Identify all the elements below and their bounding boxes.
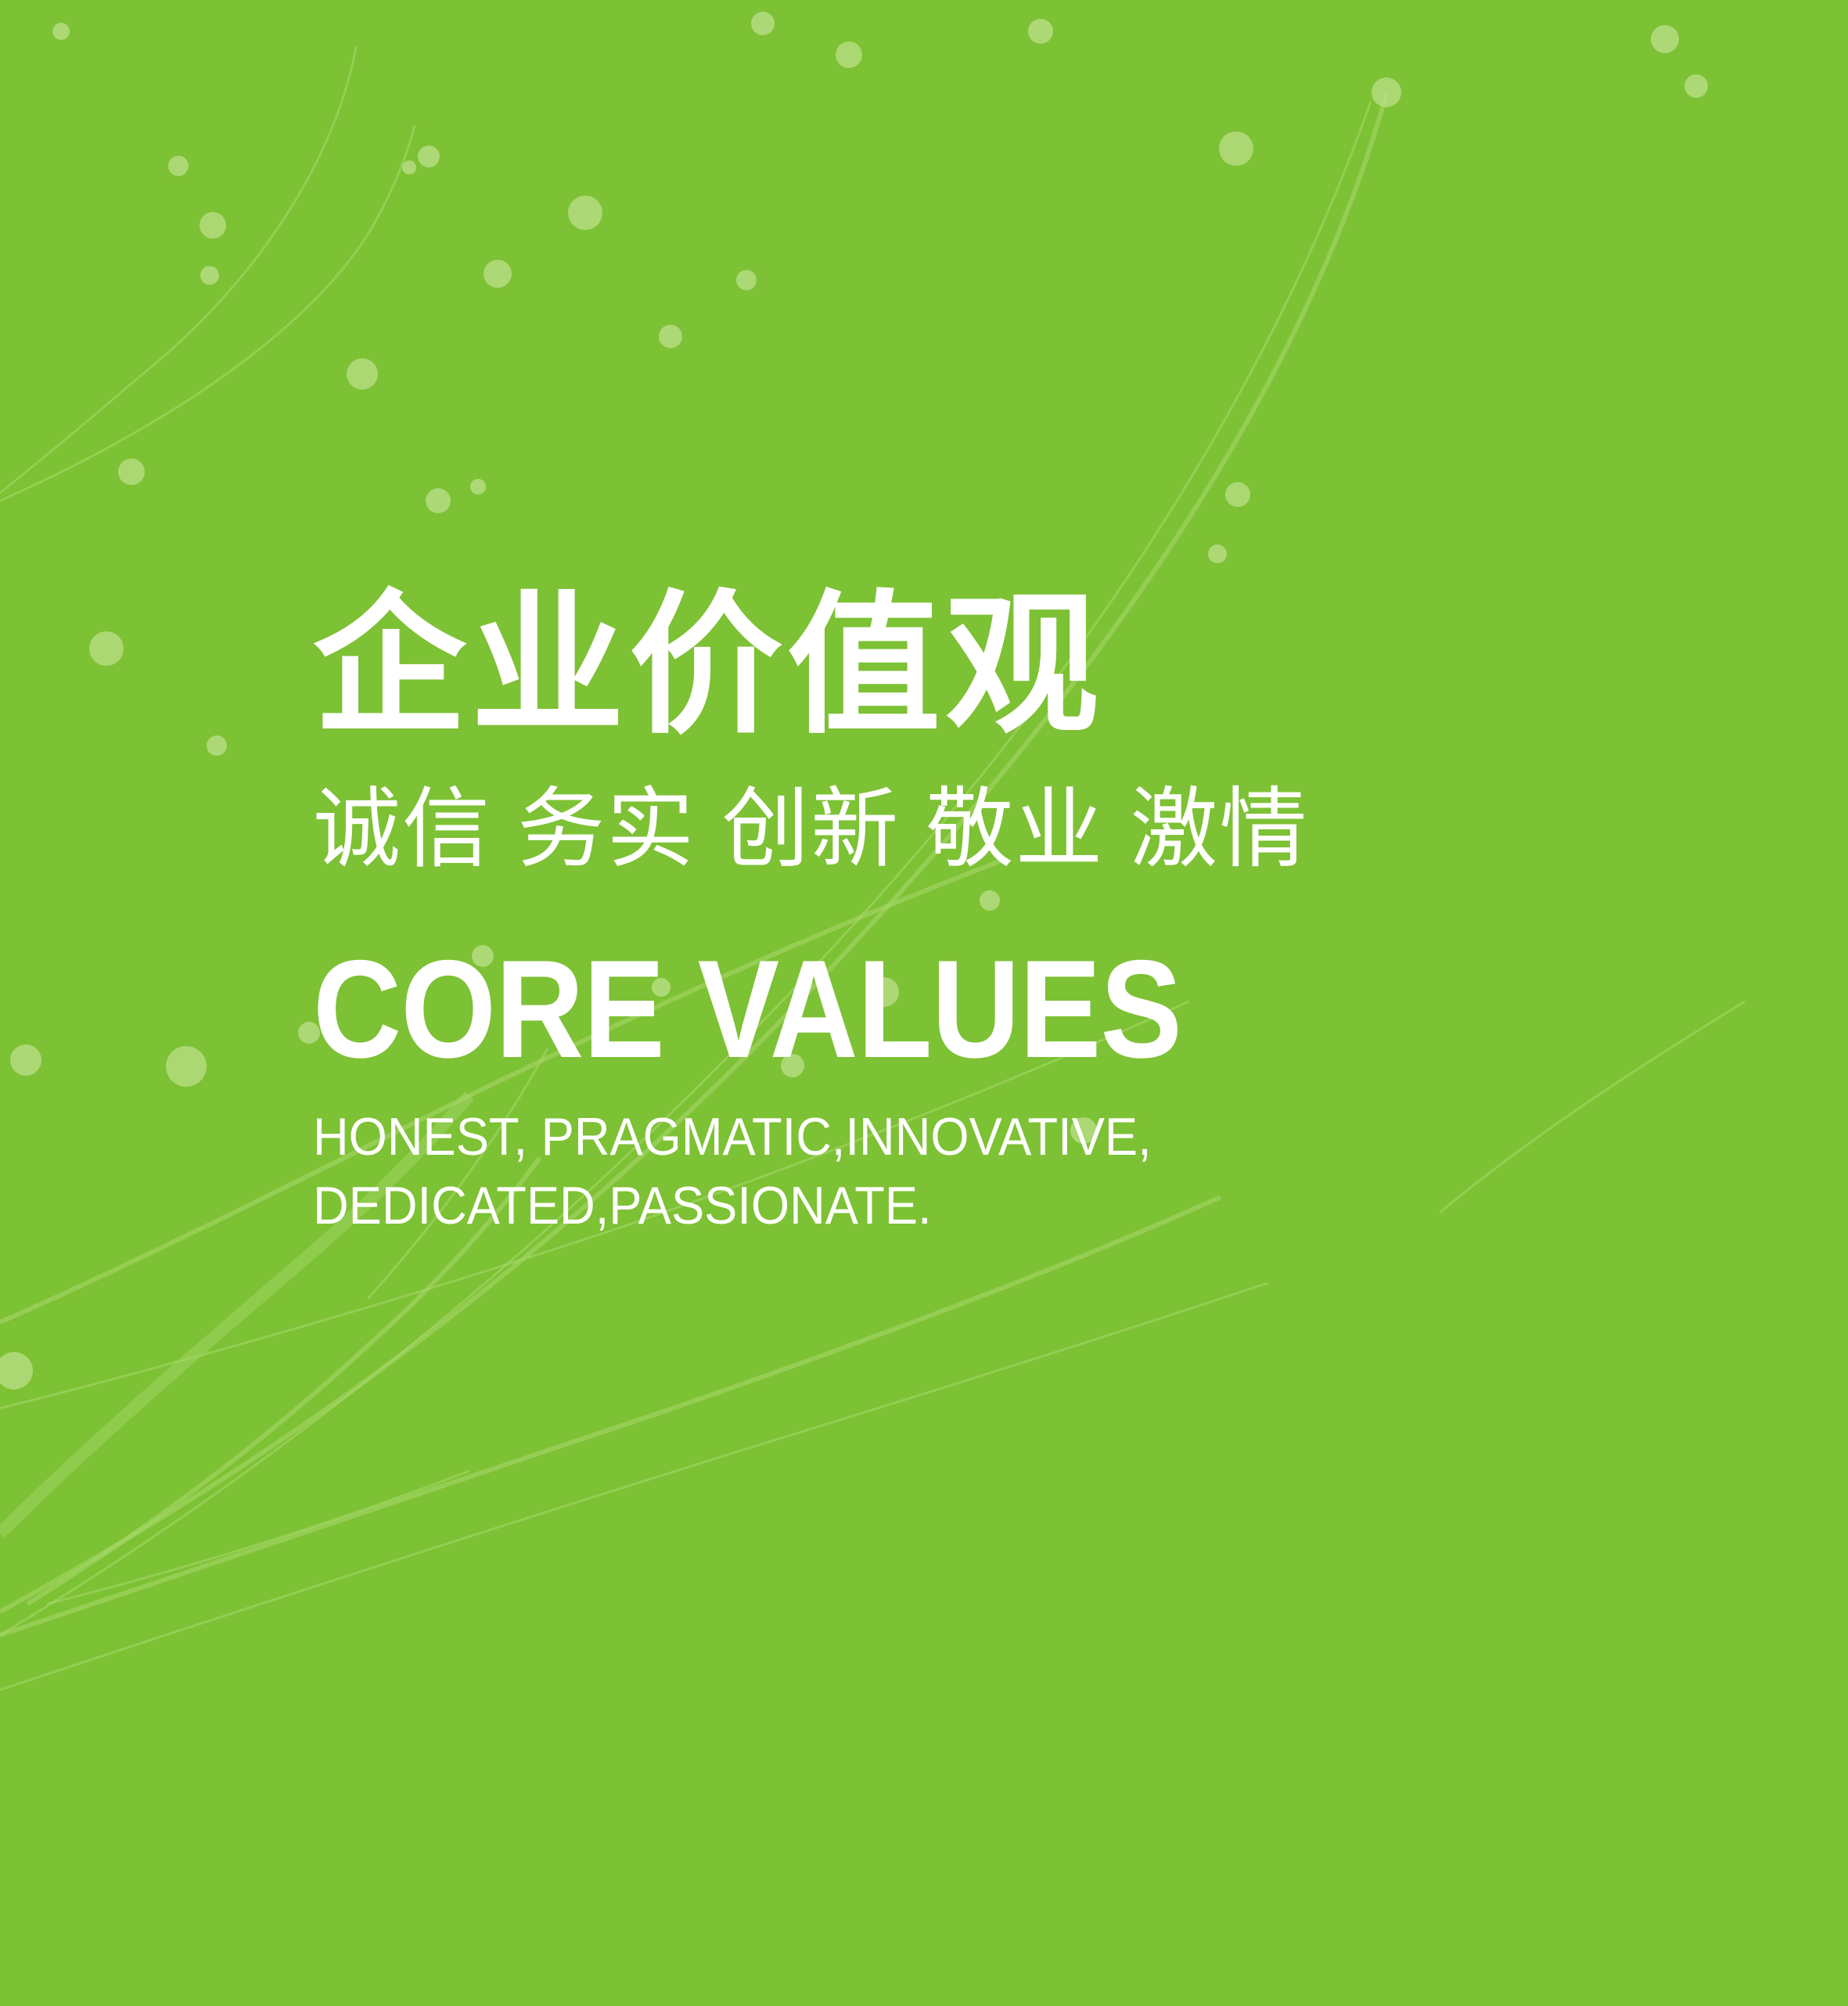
values-list-english-line-2: DEDICATED,PASSIONATE. bbox=[313, 1171, 1695, 1240]
core-values-poster: .ln { stroke:#a9d96d; fill:none; opacity… bbox=[0, 0, 1848, 2006]
page-title-english: CORE VALUES bbox=[313, 940, 1621, 1079]
page-title-chinese: 企业价值观 bbox=[313, 583, 1799, 749]
values-list-english: HONEST, PRAGMATIC,INNOVATIVE, DEDICATED,… bbox=[313, 1102, 1695, 1241]
values-list-english-line-1: HONEST, PRAGMATIC,INNOVATIVE, bbox=[313, 1102, 1695, 1171]
text-content-block: 企业价值观 诚信 务实 创新 敬业 激情 CORE VALUES HONEST,… bbox=[313, 583, 1799, 1240]
values-list-chinese: 诚信 务实 创新 敬业 激情 bbox=[313, 778, 1799, 880]
